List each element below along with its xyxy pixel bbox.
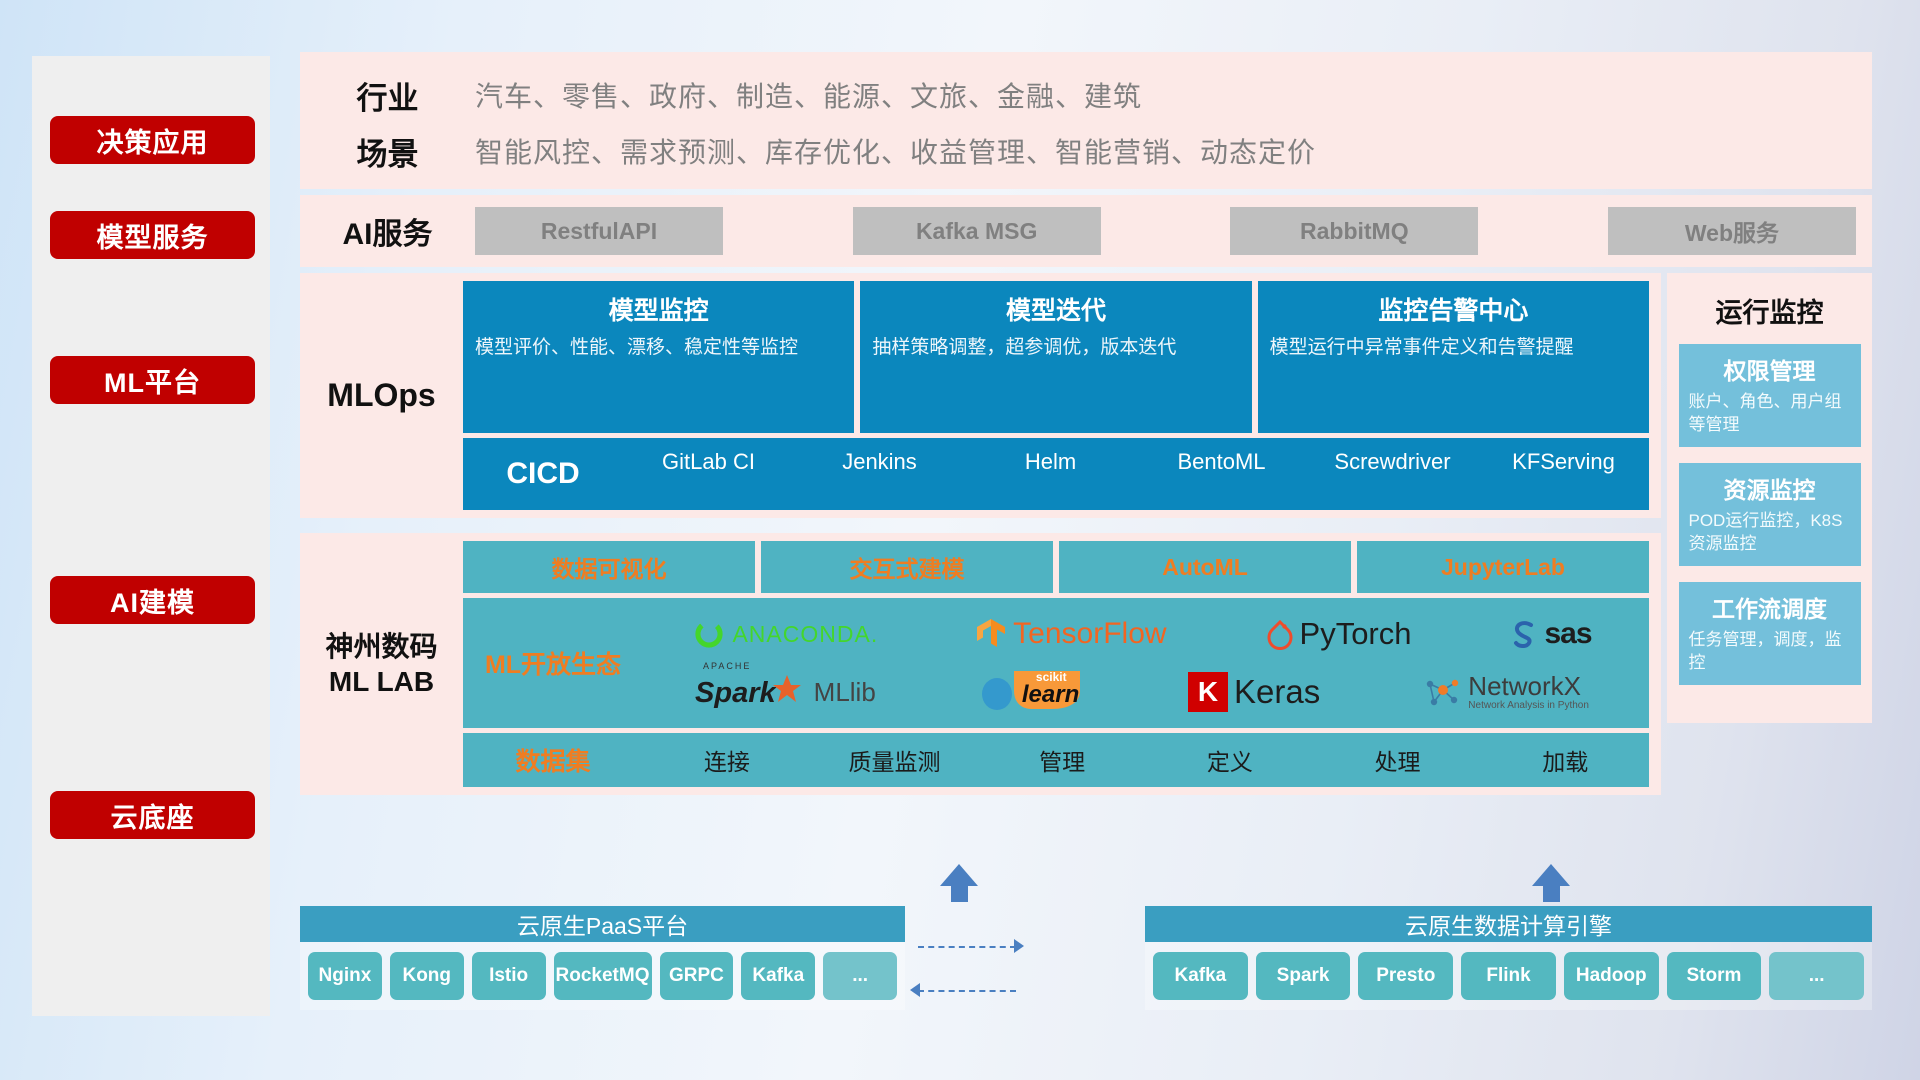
- engine-chip-kafka[interactable]: Kafka: [1153, 952, 1248, 1000]
- cicd-item-jenkins[interactable]: Jenkins: [794, 448, 965, 476]
- dataset-bar: 数据集 连接 质量监测 管理 定义 处理 加载: [463, 733, 1649, 787]
- networkx-wordmark: NetworkX: [1468, 673, 1589, 699]
- card-title: 模型迭代: [872, 291, 1239, 327]
- ai-service-restfulapi[interactable]: RestfulAPI: [475, 207, 723, 255]
- keras-logo: K Keras: [1188, 672, 1320, 712]
- spark-star-icon: [772, 674, 802, 704]
- pytorch-logo: PyTorch: [1266, 616, 1412, 652]
- ai-service-rabbitmq[interactable]: RabbitMQ: [1230, 207, 1478, 255]
- spark-wordmark: Spark: [695, 677, 776, 710]
- engine-chip-more[interactable]: ...: [1769, 952, 1864, 1000]
- industry-scenario-band: 行业 汽车、零售、政府、制造、能源、文旅、金融、建筑 场景 智能风控、需求预测、…: [300, 52, 1872, 189]
- card-title: 模型监控: [475, 291, 842, 327]
- ml-lab-band: 神州数码 ML LAB 数据可视化 交互式建模 AutoML JupyterLa…: [300, 533, 1661, 795]
- tensorflow-logo: TensorFlow: [977, 617, 1166, 651]
- cicd-item-kfserving[interactable]: KFServing: [1478, 448, 1649, 476]
- engine-chip-presto[interactable]: Presto: [1358, 952, 1453, 1000]
- keras-wordmark: Keras: [1234, 673, 1320, 711]
- cloud-foundation-zone: 云原生PaaS平台 Nginx Kong Istio RocketMQ GRPC…: [300, 880, 1872, 1030]
- anaconda-wordmark: ANACONDA.: [732, 621, 878, 648]
- monitor-card-resource[interactable]: 资源监控 POD运行监控，K8S资源监控: [1679, 463, 1861, 566]
- engine-chip-flink[interactable]: Flink: [1461, 952, 1556, 1000]
- keras-mark-icon: K: [1188, 672, 1228, 712]
- dataset-item-process[interactable]: 处理: [1314, 743, 1482, 777]
- monitor-card-workflow[interactable]: 工作流调度 任务管理，调度，监控: [1679, 582, 1861, 685]
- rail-item-cloud-base[interactable]: 云底座: [50, 791, 255, 839]
- ai-service-web[interactable]: Web服务: [1608, 207, 1856, 255]
- lab-tool-jupyterlab[interactable]: JupyterLab: [1357, 541, 1649, 593]
- paas-chip-kong[interactable]: Kong: [390, 952, 464, 1000]
- ml-lab-label: 神州数码 ML LAB: [300, 629, 463, 699]
- cicd-bar: CICD GitLab CI Jenkins Helm BentoML Scre…: [463, 438, 1649, 510]
- scenario-label: 场景: [300, 129, 475, 174]
- paas-chip-kafka[interactable]: Kafka: [741, 952, 815, 1000]
- cicd-item-screwdriver[interactable]: Screwdriver: [1307, 448, 1478, 476]
- cicd-item-bentoml[interactable]: BentoML: [1136, 448, 1307, 476]
- paas-chip-rocketmq[interactable]: RocketMQ: [554, 952, 652, 1000]
- keras-mark-letter: K: [1198, 676, 1218, 708]
- cloud-native-paas-group: 云原生PaaS平台 Nginx Kong Istio RocketMQ GRPC…: [300, 906, 905, 1010]
- mlops-card-model-iteration[interactable]: 模型迭代 抽样策略调整，超参调优，版本迭代: [860, 281, 1251, 433]
- paas-chip-grpc[interactable]: GRPC: [660, 952, 734, 1000]
- runtime-monitoring-title: 运行监控: [1716, 291, 1824, 330]
- mllib-wordmark: MLlib: [814, 677, 876, 708]
- cicd-item-gitlab-ci[interactable]: GitLab CI: [623, 448, 794, 476]
- card-title: 监控告警中心: [1270, 291, 1637, 327]
- mlops-label: MLOps: [300, 377, 463, 414]
- networkx-graph-icon: [1424, 675, 1462, 709]
- sas-wordmark: sas: [1544, 617, 1591, 651]
- scenario-row: 场景 智能风控、需求预测、库存优化、收益管理、智能营销、动态定价: [300, 126, 1872, 176]
- card-desc: 账户、角色、用户组等管理: [1689, 391, 1851, 437]
- dataset-item-define[interactable]: 定义: [1146, 743, 1314, 777]
- card-title: 资源监控: [1689, 471, 1851, 505]
- card-title: 权限管理: [1689, 352, 1851, 386]
- dataset-item-load[interactable]: 加载: [1481, 743, 1649, 777]
- card-desc: 模型运行中异常事件定义和告警提醒: [1270, 335, 1637, 361]
- lab-tool-automl[interactable]: AutoML: [1059, 541, 1351, 593]
- sas-icon: [1510, 619, 1538, 649]
- engine-title: 云原生数据计算引擎: [1145, 906, 1872, 942]
- left-rail: 决策应用 模型服务 ML平台 AI建模 云底座: [32, 56, 270, 1016]
- card-desc: 模型评价、性能、漂移、稳定性等监控: [475, 335, 842, 361]
- scikit-learn-logo: scikit learn: [980, 669, 1084, 716]
- ai-service-label: AI服务: [300, 209, 475, 253]
- arrow-up-engine-stem: [1543, 886, 1560, 902]
- card-title: 工作流调度: [1689, 590, 1851, 624]
- ai-service-band: AI服务 RestfulAPI Kafka MSG RabbitMQ Web服务: [300, 195, 1872, 267]
- dataset-item-connect[interactable]: 连接: [643, 743, 811, 777]
- mlops-card-group: 模型监控 模型评价、性能、漂移、稳定性等监控 模型迭代 抽样策略调整，超参调优，…: [463, 281, 1649, 433]
- engine-chip-group: Kafka Spark Presto Flink Hadoop Storm ..…: [1145, 942, 1872, 1010]
- dataset-item-group: 连接 质量监测 管理 定义 处理 加载: [643, 743, 1649, 777]
- card-desc: 任务管理，调度，监控: [1689, 629, 1851, 675]
- paas-chip-nginx[interactable]: Nginx: [308, 952, 382, 1000]
- rail-item-ai-modeling[interactable]: AI建模: [50, 576, 255, 624]
- runtime-monitoring-column: 运行监控 权限管理 账户、角色、用户组等管理 资源监控 POD运行监控，K8S资…: [1667, 273, 1872, 723]
- rail-item-decision-app[interactable]: 决策应用: [50, 116, 255, 164]
- tensorflow-wordmark: TensorFlow: [1013, 617, 1166, 651]
- dashed-line-right: [918, 946, 1016, 948]
- ml-lab-label-line1: 神州数码: [300, 629, 463, 664]
- paas-chip-group: Nginx Kong Istio RocketMQ GRPC Kafka ...: [300, 942, 905, 1010]
- industry-values: 汽车、零售、政府、制造、能源、文旅、金融、建筑: [475, 75, 1142, 115]
- mlops-band: MLOps 模型监控 模型评价、性能、漂移、稳定性等监控 模型迭代 抽样策略调整…: [300, 273, 1661, 518]
- mlops-card-alert-center[interactable]: 监控告警中心 模型运行中异常事件定义和告警提醒: [1258, 281, 1649, 433]
- card-desc: POD运行监控，K8S资源监控: [1689, 510, 1851, 556]
- ecosystem-logo-grid: ANACONDA. TensorFlow: [643, 606, 1649, 720]
- cicd-item-helm[interactable]: Helm: [965, 448, 1136, 476]
- pytorch-wordmark: PyTorch: [1300, 616, 1412, 652]
- arrow-up-paas-stem: [951, 886, 968, 902]
- cicd-label: CICD: [463, 457, 623, 491]
- lab-tool-interactive-modeling[interactable]: 交互式建模: [761, 541, 1053, 593]
- mlops-body: 模型监控 模型评价、性能、漂移、稳定性等监控 模型迭代 抽样策略调整，超参调优，…: [463, 281, 1649, 510]
- arrow-up-engine-head: [1532, 864, 1570, 886]
- dashed-arrow-right: [1014, 939, 1024, 953]
- industry-row: 行业 汽车、零售、政府、制造、能源、文旅、金融、建筑: [300, 70, 1872, 120]
- dataset-label: 数据集: [463, 742, 643, 778]
- monitor-card-permission[interactable]: 权限管理 账户、角色、用户组等管理: [1679, 344, 1861, 447]
- ml-open-ecosystem-box: ML开放生态 ANACONDA.: [463, 598, 1649, 728]
- paas-chip-istio[interactable]: Istio: [472, 952, 546, 1000]
- ml-lab-tools-row: 数据可视化 交互式建模 AutoML JupyterLab: [463, 541, 1649, 593]
- ml-open-ecosystem-label: ML开放生态: [463, 645, 643, 681]
- ai-service-kafka-msg[interactable]: Kafka MSG: [853, 207, 1101, 255]
- sas-logo: sas: [1510, 617, 1591, 651]
- cloud-native-data-engine-group: 云原生数据计算引擎 Kafka Spark Presto Flink Hadoo…: [1145, 906, 1872, 1010]
- networkx-tagline: Network Analysis in Python: [1468, 701, 1589, 711]
- spark-apache-tag: APACHE: [703, 661, 751, 671]
- spark-mllib-logo: APACHE Spark MLlib: [695, 674, 876, 710]
- ml-lab-row: 神州数码 ML LAB 数据可视化 交互式建模 AutoML JupyterLa…: [300, 533, 1661, 795]
- ml-lab-body: 数据可视化 交互式建模 AutoML JupyterLab ML开放生态: [463, 541, 1649, 787]
- dashed-line-left: [918, 990, 1016, 992]
- mlops-card-model-monitoring[interactable]: 模型监控 模型评价、性能、漂移、稳定性等监控: [463, 281, 854, 433]
- anaconda-logo: ANACONDA.: [692, 617, 878, 651]
- scenario-values: 智能风控、需求预测、库存优化、收益管理、智能营销、动态定价: [475, 131, 1316, 171]
- tensorflow-icon: [977, 617, 1007, 651]
- logo-row-2: APACHE Spark MLlib: [643, 664, 1641, 720]
- lab-tool-data-visualization[interactable]: 数据可视化: [463, 541, 755, 593]
- card-desc: 抽样策略调整，超参调优，版本迭代: [872, 335, 1239, 361]
- anaconda-icon: [692, 617, 726, 651]
- engine-chip-hadoop[interactable]: Hadoop: [1564, 952, 1659, 1000]
- dataset-item-manage[interactable]: 管理: [978, 743, 1146, 777]
- rail-item-ml-platform[interactable]: ML平台: [50, 356, 255, 404]
- networkx-logo: NetworkX Network Analysis in Python: [1424, 673, 1589, 711]
- learn-wordmark: learn: [1022, 681, 1079, 709]
- dashed-arrow-left: [910, 983, 920, 997]
- arrow-up-paas-head: [940, 864, 978, 886]
- engine-chip-storm[interactable]: Storm: [1667, 952, 1762, 1000]
- architecture-main: 行业 汽车、零售、政府、制造、能源、文旅、金融、建筑 场景 智能风控、需求预测、…: [300, 52, 1872, 795]
- engine-chip-spark[interactable]: Spark: [1256, 952, 1351, 1000]
- rail-item-model-service[interactable]: 模型服务: [50, 211, 255, 259]
- paas-chip-more[interactable]: ...: [823, 952, 897, 1000]
- ai-service-button-group: RestfulAPI Kafka MSG RabbitMQ Web服务: [475, 207, 1872, 255]
- dataset-item-quality[interactable]: 质量监测: [811, 743, 979, 777]
- industry-label: 行业: [300, 73, 475, 118]
- logo-row-1: ANACONDA. TensorFlow: [643, 606, 1641, 662]
- ml-lab-label-line2: ML LAB: [300, 664, 463, 699]
- pytorch-icon: [1266, 618, 1294, 650]
- cicd-item-group: GitLab CI Jenkins Helm BentoML Screwdriv…: [623, 446, 1649, 502]
- paas-title: 云原生PaaS平台: [300, 906, 905, 942]
